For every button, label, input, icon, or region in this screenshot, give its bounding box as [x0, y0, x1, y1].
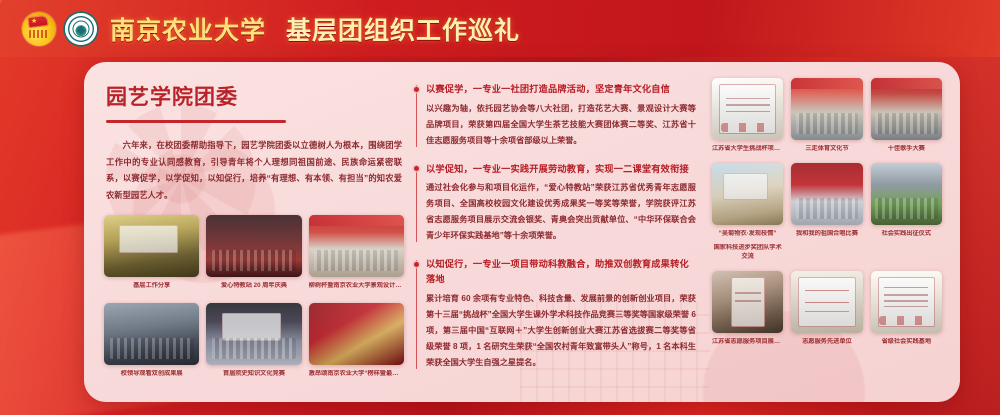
photo-item[interactable]: 首届院史知识文化竞赛	[206, 303, 301, 379]
photo-screen-detail	[222, 313, 281, 340]
poster-page: ★ 南京农业大学 基层团组织工作巡礼 园艺学院团委 六年来，在校团委帮助指导下，…	[0, 0, 1000, 415]
right-photo-row-3: 江苏省志愿服务项目展示交流会银奖 志愿服务先进单位	[712, 271, 942, 347]
bullet-dot-icon	[414, 166, 419, 171]
certificate-thumbnail[interactable]	[712, 78, 783, 140]
header-title-main: 南京农业大学	[110, 17, 266, 45]
photo-thumbnail[interactable]	[206, 303, 301, 365]
photo-item[interactable]: 激昂颂南京农业大学“榜样暨最具影响力人物”	[309, 303, 404, 379]
photo-caption: 江苏省大学生挑战杯项目二等奖	[712, 145, 783, 154]
photo-thumbnail[interactable]	[791, 78, 862, 140]
left-photo-row-2: 校领导观看双创成果展 首届院史知识文化竞赛 激昂颂南京农业大学“榜样暨最具影响力…	[104, 303, 404, 379]
highlight-body: 累计培育 60 余项有专业特色、科技含量、发展前景的创新创业项目，荣获第十三届“…	[426, 291, 696, 371]
highlight-title: 以学促知，一专业一实践开展劳动教育，实现一二课堂有效衔接	[426, 162, 696, 177]
photo-caption: 首届院史知识文化竞赛	[206, 370, 301, 379]
certificate-thumbnail[interactable]	[791, 271, 862, 333]
photo-crowd-detail	[796, 198, 859, 219]
photo-caption: 我和我的祖国合唱比赛	[791, 230, 862, 239]
photo-crowd-detail	[314, 250, 398, 271]
intro-paragraph: 六年来，在校团委帮助指导下，园艺学院团委以立德树人为根本，围绕团学工作中的专业认…	[106, 137, 402, 203]
photo-thumbnail[interactable]	[712, 163, 783, 225]
right-photo-row-1: 江苏省大学生挑战杯项目二等奖 三走体育文化节 十佳歌手大赛	[712, 78, 942, 154]
photo-thumbnail[interactable]	[104, 215, 199, 277]
photo-caption: 激昂颂南京农业大学“榜样暨最具影响力人物”	[309, 370, 404, 379]
photo-thumbnail[interactable]	[871, 78, 942, 140]
photo-banner-detail	[791, 78, 862, 89]
photo-thumbnail[interactable]	[206, 215, 301, 277]
left-column: 园艺学院团委 六年来，在校团委帮助指导下，园艺学院团委以立德树人为根本，围绕团学…	[98, 78, 404, 394]
photo-banner-detail	[309, 215, 404, 226]
photo-thumbnail[interactable]	[104, 303, 199, 365]
photo-thumbnail[interactable]	[791, 163, 862, 225]
certificate-thumbnail[interactable]	[871, 271, 942, 333]
photo-item[interactable]: 志愿服务先进单位	[791, 271, 862, 347]
photo-item[interactable]: 江苏省志愿服务项目展示交流会银奖	[712, 271, 783, 347]
right-photo-grid: 江苏省大学生挑战杯项目二等奖 三走体育文化节 十佳歌手大赛 “吴菊物衣·发现枝情	[706, 78, 946, 394]
plaque-thumbnail[interactable]	[712, 271, 783, 333]
photo-item[interactable]: 省级社会实践基地	[871, 271, 942, 347]
content-card: 园艺学院团委 六年来，在校团委帮助指导下，园艺学院团委以立德树人为根本，围绕团学…	[84, 62, 960, 402]
highlight-title: 以赛促学，一专业一社团打造品牌活动，坚定青年文化自信	[426, 82, 696, 97]
photo-item[interactable]: 十佳歌手大赛	[871, 78, 942, 154]
photo-crowd-detail	[796, 113, 859, 134]
certificate-sheet	[798, 277, 855, 327]
photo-caption: 基层工作分享	[104, 282, 199, 291]
bullet-dot-icon	[414, 262, 419, 267]
photo-item[interactable]: 社会实践出征仪式	[871, 163, 942, 262]
highlight-body: 通过社会化参与和项目化运作，“爱心特教站”荣获江苏省优秀青年志愿服务项目、全国高…	[426, 180, 696, 244]
photo-item[interactable]: 柳树杯暨南京农业大学景观设计大赛	[309, 215, 404, 291]
photo-item[interactable]: 基层工作分享	[104, 215, 199, 291]
right-photo-row-2: “吴菊物衣·发现枝情” 国家科技进步奖团队学术交流 我和我的祖国合唱比赛 社会实…	[712, 163, 942, 262]
photo-screen-detail	[119, 225, 178, 252]
photo-item[interactable]: 三走体育文化节	[791, 78, 862, 154]
photo-caption: 爱心特教站 20 周年庆典	[206, 282, 301, 291]
photo-caption-line2: 国家科技进步奖团队学术交流	[712, 244, 783, 262]
emblem-bars	[29, 30, 49, 38]
official-seals	[721, 123, 775, 132]
photo-item[interactable]: 爱心特教站 20 周年庆典	[206, 215, 301, 291]
photo-crowd-detail	[875, 113, 938, 134]
star-icon: ★	[31, 18, 37, 25]
highlight-body: 以兴趣为轴，依托园艺协会等八大社团，打造花艺大赛、景观设计大赛等品牌项目，荣获第…	[426, 101, 696, 149]
photo-banner-detail	[871, 78, 942, 89]
photo-caption: 柳树杯暨南京农业大学景观设计大赛	[309, 282, 404, 291]
page-header: ★ 南京农业大学 基层团组织工作巡礼	[0, 0, 1000, 57]
bullet-dot-icon	[414, 87, 419, 92]
section-title: 园艺学院团委	[106, 81, 404, 111]
left-photo-row-1: 基层工作分享 爱心特教站 20 周年庆典 柳树杯暨南京农业大学景观设计大赛	[104, 215, 404, 291]
photo-crowd-detail	[212, 250, 296, 271]
communist-youth-league-emblem-icon: ★	[22, 12, 56, 46]
photo-thumbnail[interactable]	[309, 303, 404, 365]
photo-screen-detail	[723, 173, 767, 200]
photo-item[interactable]: 江苏省大学生挑战杯项目二等奖	[712, 78, 783, 154]
university-seal-icon	[65, 13, 97, 45]
photo-crowd-detail	[875, 198, 938, 219]
certificate-sheet	[719, 84, 776, 134]
official-seals	[879, 316, 933, 325]
photo-thumbnail[interactable]	[309, 215, 404, 277]
photo-caption: 三走体育文化节	[791, 145, 862, 154]
photo-caption: 社会实践出征仪式	[871, 230, 942, 239]
header-title-sub: 基层团组织工作巡礼	[286, 17, 520, 45]
photo-caption: 江苏省志愿服务项目展示交流会银奖	[712, 338, 783, 347]
highlight-title: 以知促行，一专业一项目带动科教融合，助推双创教育成果转化落地	[426, 257, 696, 286]
photo-caption: 校领导观看双创成果展	[104, 370, 199, 379]
photo-thumbnail[interactable]	[871, 163, 942, 225]
plaque-sheet	[731, 277, 765, 327]
photo-crowd-detail	[212, 338, 296, 359]
photo-crowd-detail	[110, 338, 194, 359]
middle-column: 以赛促学，一专业一社团打造品牌活动，坚定青年文化自信 以兴趣为轴，依托园艺协会等…	[404, 78, 706, 394]
section-title-underline	[106, 120, 286, 123]
photo-caption: “吴菊物衣·发现枝情”	[712, 230, 783, 239]
photo-caption: 志愿服务先进单位	[791, 338, 862, 347]
certificate-sheet	[878, 277, 935, 327]
photo-caption: 省级社会实践基地	[871, 338, 942, 347]
highlight-block: 以赛促学，一专业一社团打造品牌活动，坚定青年文化自信 以兴趣为轴，依托园艺协会等…	[416, 82, 696, 149]
highlight-block: 以学促知，一专业一实践开展劳动教育，实现一二课堂有效衔接 通过社会化参与和项目化…	[416, 162, 696, 245]
highlight-block: 以知促行，一专业一项目带动科教融合，助推双创教育成果转化落地 累计培育 60 余…	[416, 257, 696, 370]
photo-item[interactable]: 校领导观看双创成果展	[104, 303, 199, 379]
photo-item[interactable]: “吴菊物衣·发现枝情” 国家科技进步奖团队学术交流	[712, 163, 783, 262]
photo-caption: 十佳歌手大赛	[871, 145, 942, 154]
page-title: 南京农业大学 基层团组织工作巡礼	[110, 11, 520, 47]
photo-item[interactable]: 我和我的祖国合唱比赛	[791, 163, 862, 262]
